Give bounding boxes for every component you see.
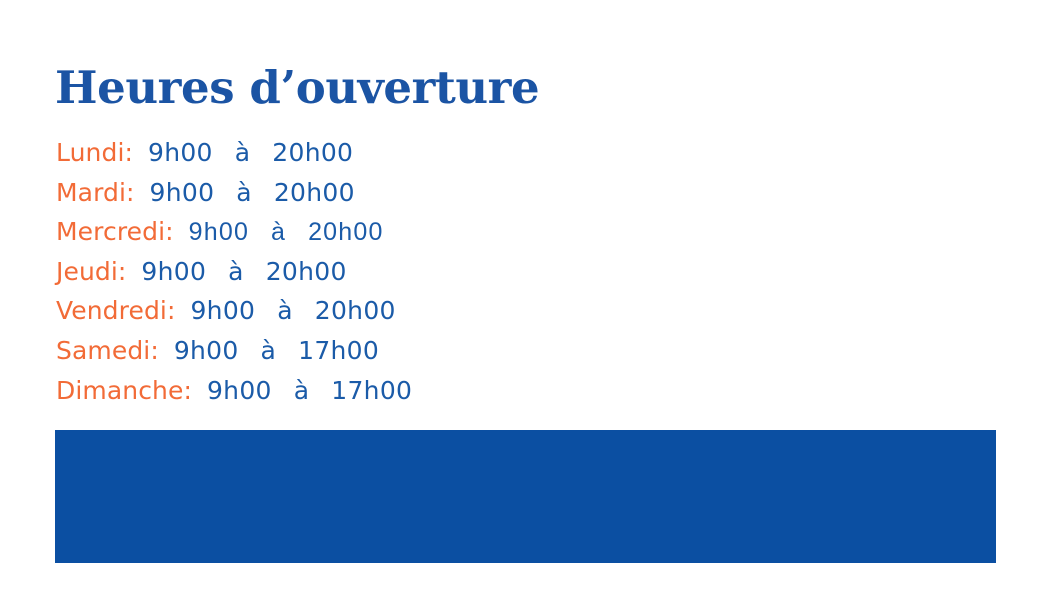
day-label: Mercredi:	[56, 217, 174, 246]
opening-time: 9h00	[141, 257, 206, 286]
day-label: Samedi:	[56, 336, 159, 365]
time-separator: à	[254, 336, 284, 365]
list-item: Jeudi: 9h00 à 20h00	[56, 252, 656, 292]
time-separator: à	[221, 257, 251, 286]
list-item: Lundi: 9h00 à 20h00	[56, 133, 656, 173]
page-title: Heures d’ouverture	[55, 62, 539, 114]
time-separator: à	[229, 178, 259, 207]
time-separator: à	[264, 218, 293, 246]
time-separator: à	[270, 296, 300, 325]
day-label: Jeudi:	[56, 257, 126, 286]
opening-time: 9h00	[148, 138, 213, 167]
opening-time: 9h00	[174, 336, 239, 365]
opening-time: 9h00	[189, 218, 249, 246]
slide-canvas: Heures d’ouverture Lundi: 9h00 à 20h00 M…	[0, 0, 1050, 600]
closing-time: 20h00	[315, 296, 396, 325]
opening-time: 9h00	[190, 296, 255, 325]
closing-time: 20h00	[274, 178, 355, 207]
list-item: Mercredi: 9h00 à 20h00	[56, 212, 656, 252]
closing-time: 20h00	[272, 138, 353, 167]
closing-time: 17h00	[331, 376, 412, 405]
closing-time: 20h00	[308, 218, 384, 246]
opening-hours-list: Lundi: 9h00 à 20h00 Mardi: 9h00 à 20h00 …	[56, 133, 656, 410]
list-item: Mardi: 9h00 à 20h00	[56, 173, 656, 213]
blue-banner-block	[55, 430, 996, 563]
opening-time: 9h00	[150, 178, 215, 207]
list-item: Vendredi: 9h00 à 20h00	[56, 291, 656, 331]
closing-time: 17h00	[298, 336, 379, 365]
opening-time: 9h00	[207, 376, 272, 405]
time-separator: à	[287, 376, 317, 405]
day-label: Mardi:	[56, 178, 135, 207]
closing-time: 20h00	[266, 257, 347, 286]
day-label: Lundi:	[56, 138, 133, 167]
list-item: Dimanche: 9h00 à 17h00	[56, 371, 656, 411]
list-item: Samedi: 9h00 à 17h00	[56, 331, 656, 371]
day-label: Dimanche:	[56, 376, 192, 405]
day-label: Vendredi:	[56, 296, 176, 325]
time-separator: à	[228, 138, 258, 167]
